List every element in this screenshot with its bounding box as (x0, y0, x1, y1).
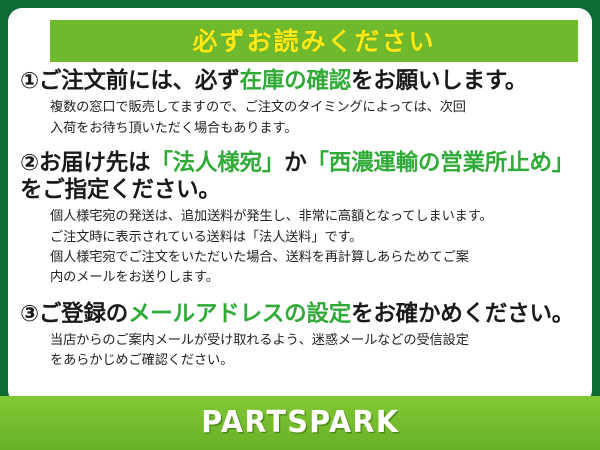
notice-item-1-heading-before: ご注文前には、必ず (39, 68, 240, 94)
notice-banner: 必ずお読みください ①ご注文前には、必ず在庫の確認をお願いします。 複数の窓口で… (0, 0, 600, 450)
brand-logo-text: PARTSPARK (201, 408, 399, 438)
notice-item-3: ③ご登録のメールアドレスの設定をお確かめください。 当店からのご案内メールが受け… (8, 301, 592, 372)
notice-item-1-heading-highlight: 在庫の確認 (240, 68, 352, 94)
notice-item-3-heading-before: ご登録の (39, 301, 128, 327)
notice-item-3-number: ③ (20, 301, 39, 327)
notice-item-2-detail: 個人様宅宛の発送は、追加送料が発生し、非常に高額となってしまいます。 ご注文時に… (50, 207, 582, 287)
notice-item-3-heading-highlight: メールアドレスの設定 (128, 301, 351, 327)
notice-item-1-detail: 複数の窓口で販売してますので、ご注文のタイミングによっては、次回 入荷をお待ち頂… (50, 98, 582, 138)
notice-item-2-heading-highlight: 「法人様宛」 (150, 150, 284, 176)
notice-item-2: ②お届け先は「法人様宛」か「西濃運輸の営業所止め」 をご指定ください。 個人様宅… (8, 150, 592, 288)
notice-item-2-heading-middle: か (284, 150, 306, 176)
footer-bar: PARTSPARK (0, 396, 600, 450)
notice-item-list: ①ご注文前には、必ず在庫の確認をお願いします。 複数の窓口で販売してますので、ご… (8, 66, 592, 371)
notice-item-2-heading: ②お届け先は「法人様宛」か「西濃運輸の営業所止め」 (20, 150, 582, 177)
notice-item-2-heading-line2: をご指定ください。 (20, 177, 582, 204)
notice-item-3-heading: ③ご登録のメールアドレスの設定をお確かめください。 (20, 301, 582, 328)
notice-item-1: ①ご注文前には、必ず在庫の確認をお願いします。 複数の窓口で販売してますので、ご… (8, 68, 592, 139)
notice-item-2-number: ② (20, 150, 39, 176)
notice-item-3-heading-after: をお確かめください。 (351, 301, 574, 327)
notice-item-1-heading-after: をお願いします。 (351, 68, 527, 94)
notice-item-1-number: ① (20, 68, 39, 94)
notice-item-3-detail: 当店からのご案内メールが受け取れるよう、迷惑メールなどの受信設定 をあらかじめご… (50, 331, 582, 371)
notice-item-1-heading: ①ご注文前には、必ず在庫の確認をお願いします。 (20, 68, 582, 95)
notice-card: 必ずお読みください ①ご注文前には、必ず在庫の確認をお願いします。 複数の窓口で… (8, 8, 592, 404)
notice-item-2-heading-highlight-2: 「西濃運輸の営業所止め」 (307, 150, 575, 176)
notice-item-2-heading-before: お届け先は (39, 150, 151, 176)
page-title: 必ずお読みください (192, 29, 435, 54)
notice-title-bar: 必ずお読みください (50, 20, 578, 62)
